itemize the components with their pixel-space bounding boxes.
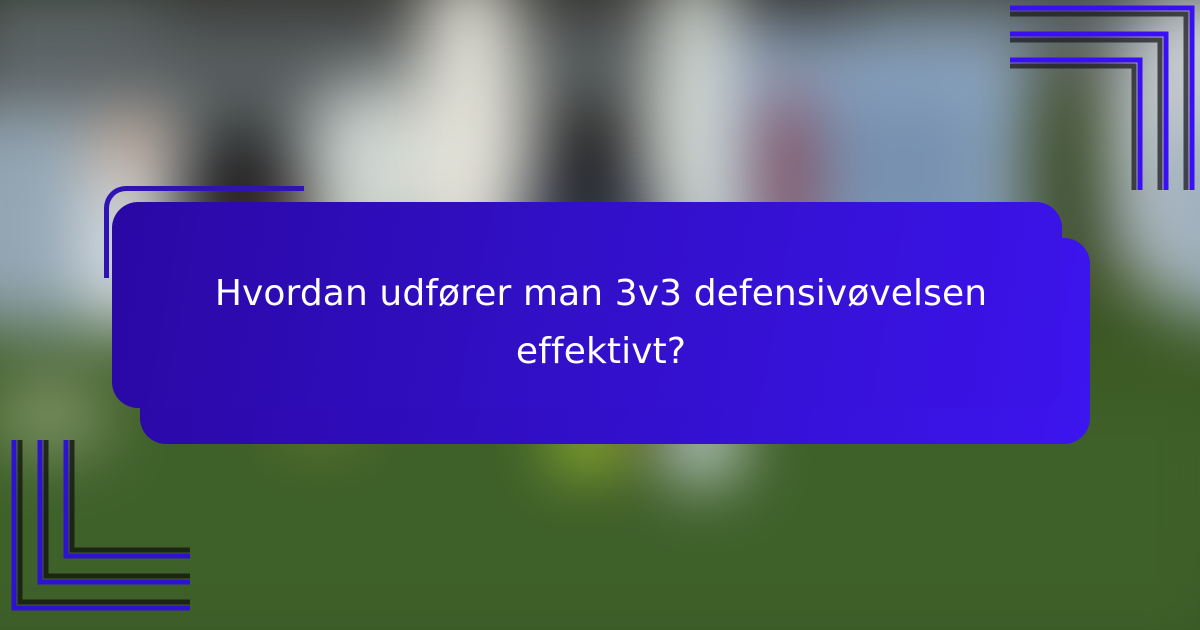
background-player-head-blob	[550, 100, 628, 186]
background-highlight-blob	[0, 380, 110, 450]
background-person-head-blob	[98, 120, 158, 180]
page-title: Hvordan udfører man 3v3 defensivøvelsen …	[182, 265, 1020, 380]
question-card-text-area: Hvordan udfører man 3v3 defensivøvelsen …	[112, 202, 1090, 444]
screenshot-canvas: Hvordan udfører man 3v3 defensivøvelsen …	[0, 0, 1200, 630]
